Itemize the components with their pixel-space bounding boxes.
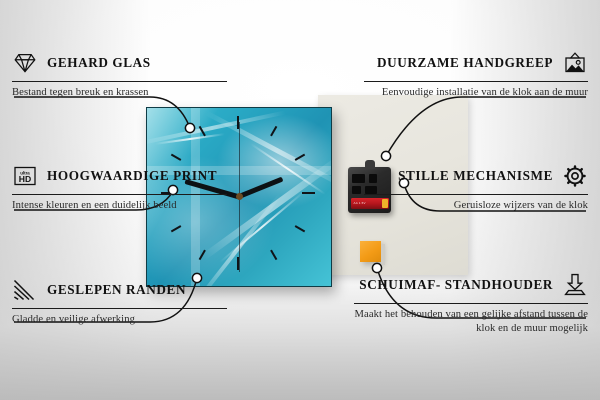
bevelled-edge-icon [12, 277, 38, 303]
feature-title: SCHUIMAF- STANDHOUDER [359, 277, 553, 293]
feature-subtitle: Gladde en veilige afwerking [12, 313, 227, 327]
feature-title: HOOGWAARDIGE PRINT [47, 168, 217, 184]
feature-subtitle: Intense kleuren en een duidelijk beeld [12, 199, 227, 213]
divider [354, 303, 588, 304]
feature-gehard-glas: GEHARD GLAS Bestand tegen breuk en krass… [12, 50, 227, 100]
svg-text:HD: HD [19, 174, 31, 184]
hanging-picture-icon [562, 50, 588, 76]
feature-subtitle: Maakt het behouden van een gelijke afsta… [354, 308, 588, 335]
ultra-hd-icon: ultra HD [12, 163, 38, 189]
feature-hoogwaardige-print: ultra HD HOOGWAARDIGE PRINT Intense kleu… [12, 163, 227, 213]
feature-title: GESLEPEN RANDEN [47, 282, 186, 298]
foam-spacer-pad [360, 241, 381, 262]
feature-title: DUURZAME HANDGREEP [377, 55, 553, 71]
clock-center-pin [236, 193, 243, 200]
divider [364, 81, 588, 82]
feature-geslepen-randen: GESLEPEN RANDEN Gladde en veilige afwerk… [12, 277, 227, 327]
feature-subtitle: Bestand tegen breuk en krassen [12, 86, 227, 100]
feature-stille-mechanisme: STILLE MECHANISME Geru [364, 163, 588, 213]
divider [364, 194, 588, 195]
gear-icon [562, 163, 588, 189]
feature-subtitle: Geruisloze wijzers van de klok [364, 199, 588, 213]
product-feature-infographic: AA 1.5V [0, 0, 600, 400]
feature-title: STILLE MECHANISME [398, 168, 553, 184]
diamond-icon [12, 50, 38, 76]
feature-subtitle: Eenvoudige installatie van de klok aan d… [364, 86, 588, 100]
divider [12, 81, 227, 82]
feature-schuimafstandhouder: SCHUIMAF- STANDHOUDER Maakt het behouden… [354, 272, 588, 335]
feature-title: GEHARD GLAS [47, 55, 151, 71]
spacer-down-arrow-icon [562, 272, 588, 298]
feature-duurzame-handgreep: DUURZAME HANDGREEP Eenvoudige installati… [364, 50, 588, 100]
divider [12, 194, 227, 195]
divider [12, 308, 227, 309]
